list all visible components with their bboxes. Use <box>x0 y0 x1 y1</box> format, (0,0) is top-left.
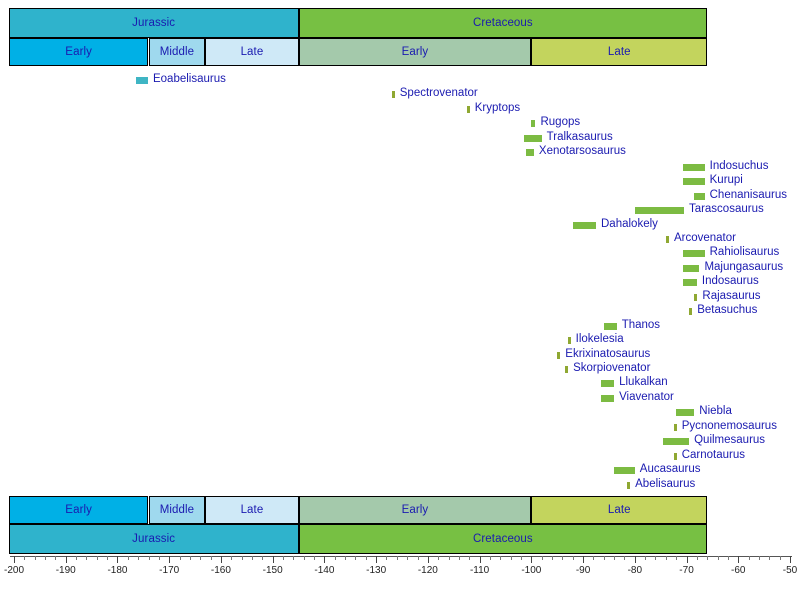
axis-tick-minor <box>728 556 729 560</box>
band-label: Early <box>65 504 92 516</box>
axis-tick-minor <box>666 556 667 560</box>
axis-tick-minor <box>759 556 760 560</box>
taxon-row: Quilmesaurus <box>0 435 800 449</box>
axis-tick-minor <box>386 556 387 560</box>
axis-tick-minor <box>500 556 501 560</box>
range-bar-tarascosaurus <box>635 207 684 214</box>
axis-tick-major <box>531 556 532 563</box>
taxon-label-carnotaurus: Carnotaurus <box>682 448 745 462</box>
taxon-label-arcovenator: Arcovenator <box>674 231 736 245</box>
axis-tick-minor <box>252 556 253 560</box>
band-label: Late <box>608 46 631 58</box>
axis-tick-minor <box>366 556 367 560</box>
axis-tick-label: -130 <box>366 565 386 576</box>
period-band-cretaceous: Cretaceous <box>299 524 708 554</box>
axis-tick-minor <box>180 556 181 560</box>
band-label: Late <box>241 504 264 516</box>
range-bar-rugops <box>531 120 535 127</box>
band-label: Middle <box>160 504 194 516</box>
axis-tick-major <box>635 556 636 563</box>
taxon-row: Indosaurus <box>0 276 800 290</box>
taxon-row: Ekrixinatosaurus <box>0 349 800 363</box>
axis-tick-minor <box>469 556 470 560</box>
band-label: Early <box>65 46 92 58</box>
axis-tick-minor <box>107 556 108 560</box>
axis-tick-minor <box>293 556 294 560</box>
taxon-row: Ilokelesia <box>0 334 800 348</box>
range-bar-skorpiovenator <box>565 366 568 373</box>
band-label: Early <box>402 46 429 58</box>
range-bar-rahiolisaurus <box>683 250 704 257</box>
taxon-row: Tralkasaurus <box>0 132 800 146</box>
axis-tick-major <box>169 556 170 563</box>
range-bar-aucasaurus <box>614 467 635 474</box>
axis-tick-minor <box>138 556 139 560</box>
epoch-band-early-3: Early <box>299 38 532 66</box>
axis-tick-major <box>66 556 67 563</box>
axis-tick-minor <box>655 556 656 560</box>
epoch-band-early-0: Early <box>9 38 149 66</box>
axis-tick-minor <box>314 556 315 560</box>
axis-tick-label: -200 <box>4 565 24 576</box>
range-bar-ilokelesia <box>568 337 571 344</box>
axis-tick-minor <box>521 556 522 560</box>
axis-tick-minor <box>200 556 201 560</box>
axis-tick-major <box>273 556 274 563</box>
taxon-label-indosaurus: Indosaurus <box>702 274 759 288</box>
taxon-row: Thanos <box>0 320 800 334</box>
axis-tick-label: -80 <box>628 565 642 576</box>
band-label: Early <box>402 504 429 516</box>
taxon-label-indosuchus: Indosuchus <box>710 159 769 173</box>
axis-tick-minor <box>397 556 398 560</box>
taxon-row: Xenotarsosaurus <box>0 146 800 160</box>
axis-tick-minor <box>304 556 305 560</box>
taxon-row: Tarascosaurus <box>0 204 800 218</box>
range-bar-majungasaurus <box>683 265 699 272</box>
range-bar-kurupi <box>683 178 704 185</box>
range-bar-indosaurus <box>683 279 696 286</box>
axis-tick-minor <box>438 556 439 560</box>
taxon-label-kurupi: Kurupi <box>710 173 743 187</box>
taxon-label-thanos: Thanos <box>622 318 660 332</box>
axis-tick-minor <box>449 556 450 560</box>
taxon-row: Rajasaurus <box>0 291 800 305</box>
range-bar-betasuchus <box>689 308 692 315</box>
axis-tick-minor <box>355 556 356 560</box>
taxon-row: Arcovenator <box>0 233 800 247</box>
taxon-row: Rahiolisaurus <box>0 247 800 261</box>
axis-tick-major <box>738 556 739 563</box>
range-bar-carnotaurus <box>674 453 677 460</box>
axis-tick-label: -110 <box>470 565 489 576</box>
axis-tick-major <box>583 556 584 563</box>
epoch-band-late-2: Late <box>205 496 298 524</box>
axis-tick-minor <box>335 556 336 560</box>
axis-tick-label: -160 <box>211 565 231 576</box>
taxon-label-abelisaurus: Abelisaurus <box>635 477 695 491</box>
axis-tick-minor <box>190 556 191 560</box>
taxon-row: Skorpiovenator <box>0 363 800 377</box>
range-bar-pycnonemosaurus <box>674 424 677 431</box>
epoch-band-middle-1: Middle <box>149 496 206 524</box>
band-label: Late <box>241 46 264 58</box>
axis-tick-label: -140 <box>314 565 334 576</box>
period-band-jurassic: Jurassic <box>9 8 299 38</box>
taxon-row: Niebla <box>0 406 800 420</box>
axis-tick-minor <box>97 556 98 560</box>
range-bar-tralkasaurus <box>524 135 542 142</box>
axis-tick-minor <box>769 556 770 560</box>
range-bar-indosuchus <box>683 164 704 171</box>
range-bar-chenanisaurus <box>694 193 704 200</box>
taxon-label-spectrovenator: Spectrovenator <box>400 86 478 100</box>
taxon-label-tralkasaurus: Tralkasaurus <box>547 130 613 144</box>
axis-tick-minor <box>418 556 419 560</box>
axis-tick-minor <box>149 556 150 560</box>
axis-tick-minor <box>211 556 212 560</box>
taxon-label-chenanisaurus: Chenanisaurus <box>710 188 787 202</box>
band-label: Cretaceous <box>473 533 533 545</box>
taxon-label-aucasaurus: Aucasaurus <box>640 462 701 476</box>
axis-tick-label: -70 <box>679 565 693 576</box>
axis-tick-minor <box>45 556 46 560</box>
axis-tick-label: -50 <box>783 565 797 576</box>
taxon-row: Indosuchus <box>0 161 800 175</box>
taxon-label-skorpiovenator: Skorpiovenator <box>573 361 650 375</box>
axis-tick-major <box>117 556 118 563</box>
axis-tick-minor <box>511 556 512 560</box>
taxon-label-quilmesaurus: Quilmesaurus <box>694 433 765 447</box>
taxon-label-llukalkan: Llukalkan <box>619 375 668 389</box>
axis-tick-minor <box>562 556 563 560</box>
range-bar-viavenator <box>601 395 614 402</box>
taxon-label-betasuchus: Betasuchus <box>697 303 757 317</box>
epoch-band-late-4: Late <box>531 496 707 524</box>
time-axis: -200-190-180-170-160-150-140-130-120-110… <box>0 556 800 600</box>
axis-tick-minor <box>749 556 750 560</box>
taxon-label-rajasaurus: Rajasaurus <box>702 289 760 303</box>
taxon-label-rahiolisaurus: Rahiolisaurus <box>710 245 780 259</box>
axis-tick-minor <box>697 556 698 560</box>
range-bar-eoabelisaurus <box>136 77 148 84</box>
range-bar-rajasaurus <box>694 294 697 301</box>
taxon-label-viavenator: Viavenator <box>619 390 674 404</box>
axis-tick-minor <box>542 556 543 560</box>
axis-tick-major <box>324 556 325 563</box>
epoch-band-early-0: Early <box>9 496 149 524</box>
range-bar-niebla <box>676 409 694 416</box>
taxon-row: Spectrovenator <box>0 88 800 102</box>
taxon-label-eoabelisaurus: Eoabelisaurus <box>153 72 226 86</box>
axis-tick-major <box>376 556 377 563</box>
taxon-label-majungasaurus: Majungasaurus <box>704 260 783 274</box>
axis-tick-major <box>790 556 791 563</box>
taxon-row: Rugops <box>0 117 800 131</box>
axis-tick-label: -60 <box>731 565 745 576</box>
axis-tick-minor <box>676 556 677 560</box>
range-bar-arcovenator <box>666 236 669 243</box>
taxon-row: Pycnonemosaurus <box>0 421 800 435</box>
band-label: Jurassic <box>132 17 175 29</box>
axis-tick-minor <box>707 556 708 560</box>
taxon-label-pycnonemosaurus: Pycnonemosaurus <box>682 419 777 433</box>
axis-tick-label: -190 <box>56 565 76 576</box>
axis-tick-minor <box>573 556 574 560</box>
axis-tick-major <box>14 556 15 563</box>
range-bar-kryptops <box>467 106 470 113</box>
axis-tick-minor <box>552 556 553 560</box>
axis-tick-major <box>480 556 481 563</box>
range-bar-dahalokely <box>573 222 596 229</box>
period-band-cretaceous: Cretaceous <box>299 8 708 38</box>
axis-tick-minor <box>159 556 160 560</box>
axis-tick-minor <box>76 556 77 560</box>
range-bar-llukalkan <box>601 380 614 387</box>
range-bar-abelisaurus <box>627 482 630 489</box>
epoch-band-middle-1: Middle <box>149 38 206 66</box>
axis-tick-minor <box>35 556 36 560</box>
axis-tick-minor <box>780 556 781 560</box>
axis-tick-major <box>687 556 688 563</box>
axis-tick-minor <box>614 556 615 560</box>
axis-tick-minor <box>128 556 129 560</box>
axis-tick-minor <box>459 556 460 560</box>
taxon-label-tarascosaurus: Tarascosaurus <box>689 202 764 216</box>
taxon-label-rugops: Rugops <box>540 115 580 129</box>
timeline-chart: JurassicCretaceous EarlyMiddleLateEarlyL… <box>0 0 800 600</box>
epoch-band-early-3: Early <box>299 496 532 524</box>
axis-tick-minor <box>242 556 243 560</box>
axis-tick-label: -170 <box>159 565 179 576</box>
period-band-jurassic: Jurassic <box>9 524 299 554</box>
range-bar-spectrovenator <box>392 91 395 98</box>
axis-tick-minor <box>407 556 408 560</box>
range-bar-ekrixinatosaurus <box>557 352 560 359</box>
taxon-row: Majungasaurus <box>0 262 800 276</box>
axis-tick-minor <box>645 556 646 560</box>
taxon-row: Kurupi <box>0 175 800 189</box>
axis-tick-minor <box>593 556 594 560</box>
axis-tick-minor <box>345 556 346 560</box>
axis-tick-minor <box>231 556 232 560</box>
axis-tick-label: -150 <box>263 565 283 576</box>
axis-tick-major <box>221 556 222 563</box>
taxon-row: Viavenator <box>0 392 800 406</box>
range-bar-xenotarsosaurus <box>526 149 534 156</box>
taxon-label-ilokelesia: Ilokelesia <box>576 332 624 346</box>
taxon-label-xenotarsosaurus: Xenotarsosaurus <box>539 144 626 158</box>
band-label: Middle <box>160 46 194 58</box>
axis-tick-label: -120 <box>418 565 438 576</box>
taxon-label-niebla: Niebla <box>699 404 732 418</box>
taxon-label-ekrixinatosaurus: Ekrixinatosaurus <box>565 347 650 361</box>
axis-tick-minor <box>604 556 605 560</box>
band-label: Cretaceous <box>473 17 533 29</box>
taxon-row: Betasuchus <box>0 305 800 319</box>
axis-tick-label: -180 <box>107 565 127 576</box>
axis-tick-minor <box>718 556 719 560</box>
taxon-row: Kryptops <box>0 103 800 117</box>
axis-tick-minor <box>283 556 284 560</box>
axis-tick-label: -100 <box>521 565 541 576</box>
axis-tick-major <box>428 556 429 563</box>
taxon-label-dahalokely: Dahalokely <box>601 217 658 231</box>
band-label: Late <box>608 504 631 516</box>
range-bar-quilmesaurus <box>663 438 689 445</box>
axis-tick-minor <box>490 556 491 560</box>
axis-tick-minor <box>24 556 25 560</box>
epoch-band-late-2: Late <box>205 38 298 66</box>
axis-tick-minor <box>86 556 87 560</box>
axis-tick-label: -90 <box>576 565 590 576</box>
taxon-row: Abelisaurus <box>0 479 800 493</box>
taxon-row: Llukalkan <box>0 377 800 391</box>
axis-tick-minor <box>55 556 56 560</box>
axis-tick-minor <box>624 556 625 560</box>
band-label: Jurassic <box>132 533 175 545</box>
axis-tick-minor <box>262 556 263 560</box>
epoch-band-late-4: Late <box>531 38 707 66</box>
taxon-label-kryptops: Kryptops <box>475 101 520 115</box>
taxon-row: Chenanisaurus <box>0 190 800 204</box>
range-bar-thanos <box>604 323 617 330</box>
